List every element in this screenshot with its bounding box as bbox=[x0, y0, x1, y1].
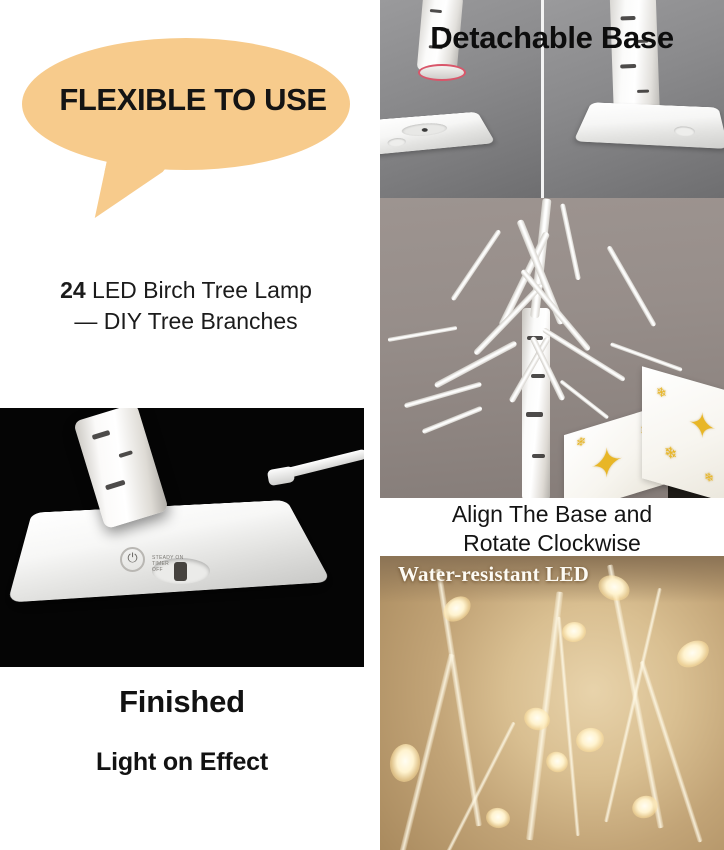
power-button-dimple bbox=[674, 126, 695, 137]
mode-labels: STEADY ON TIMER OFF bbox=[152, 555, 184, 573]
led-bulb bbox=[574, 725, 607, 755]
gold-snowflake-icon: ❄ bbox=[656, 384, 667, 400]
gold-snowflake-icon: ❄ bbox=[704, 470, 714, 485]
detachable-base-heading: Detachable Base bbox=[380, 20, 724, 56]
water-resistant-led-label: Water-resistant LED bbox=[398, 562, 589, 587]
white-base-mounted bbox=[573, 102, 724, 149]
gold-snowflake-icon: ❄ bbox=[576, 434, 586, 449]
led-bulb bbox=[543, 748, 572, 776]
gold-star-icon: ✦ bbox=[590, 439, 624, 489]
led-bulb bbox=[484, 806, 511, 830]
product-title-line-1-rest: LED Birch Tree Lamp bbox=[86, 277, 312, 303]
tree-branch bbox=[388, 326, 458, 342]
gold-star-card: ✦ ❄ ❄ ❄ ✦ ❄ ❄ ❄ bbox=[564, 360, 724, 498]
flexible-to-use-label: FLEXIBLE TO USE bbox=[28, 82, 354, 118]
finished-caption: Finished bbox=[0, 684, 364, 720]
finished-base-photo: ⏻ STEADY ON TIMER OFF bbox=[0, 408, 364, 667]
red-alignment-ring bbox=[418, 64, 466, 81]
align-base-caption-line-1: Align The Base and bbox=[380, 500, 724, 529]
led-bulb bbox=[595, 571, 634, 605]
gold-snowflake-icon: ❄ bbox=[664, 445, 677, 465]
align-base-caption-line-2: Rotate Clockwise bbox=[380, 529, 724, 558]
power-plug bbox=[267, 466, 295, 486]
product-title-line-1: 24 LED Birch Tree Lamp bbox=[8, 275, 364, 306]
product-title-line-2: — DIY Tree Branches bbox=[8, 306, 364, 337]
led-branch bbox=[444, 721, 516, 850]
led-bulb bbox=[561, 620, 588, 643]
tree-branch bbox=[422, 406, 483, 435]
mode-label-off: OFF bbox=[152, 567, 184, 573]
white-base bbox=[8, 500, 332, 603]
gold-star-icon: ✦ bbox=[688, 405, 717, 447]
led-bulb bbox=[672, 635, 713, 673]
power-button-icon[interactable]: ⏻ bbox=[120, 547, 145, 572]
product-title: 24 LED Birch Tree Lamp — DIY Tree Branch… bbox=[8, 275, 364, 337]
detachable-base-photo-pair: Detachable Base bbox=[380, 0, 724, 198]
tree-branch bbox=[606, 245, 656, 327]
tree-branch bbox=[450, 229, 501, 301]
align-base-caption: Align The Base and Rotate Clockwise bbox=[380, 500, 724, 558]
led-quantity: 24 bbox=[60, 277, 86, 303]
base-socket bbox=[401, 122, 449, 138]
tree-branch bbox=[404, 382, 482, 409]
tree-branch bbox=[560, 203, 581, 280]
water-resistant-led-photo bbox=[380, 556, 724, 850]
birch-tree-photo: ✦ ❄ ❄ ❄ ✦ ❄ ❄ ❄ bbox=[380, 198, 724, 498]
light-on-effect-caption: Light on Effect bbox=[0, 748, 364, 777]
flexible-to-use-callout: FLEXIBLE TO USE bbox=[14, 38, 354, 218]
white-base-detached bbox=[380, 112, 496, 156]
led-branch bbox=[557, 617, 580, 837]
power-button-dimple bbox=[388, 137, 407, 147]
card-face-back: ✦ ❄ ❄ ❄ bbox=[642, 366, 724, 498]
